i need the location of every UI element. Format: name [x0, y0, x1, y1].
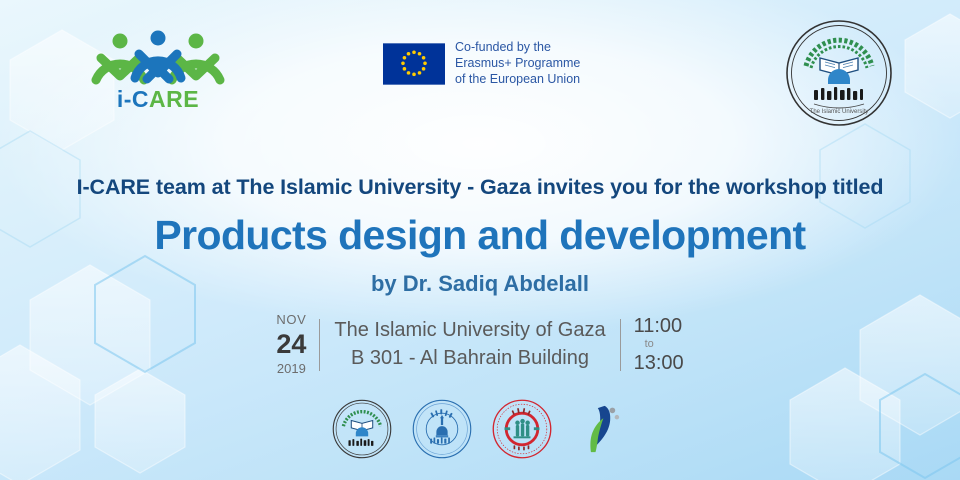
partner-logo-row — [0, 398, 960, 460]
event-day: 24 — [276, 331, 306, 358]
event-venue-block: The Islamic University of Gaza B 301 - A… — [320, 317, 619, 371]
svg-text:The Islamic University: The Islamic University — [810, 109, 869, 115]
event-year: 2019 — [277, 361, 306, 376]
eu-funding-line-2: Erasmus+ Programme — [455, 56, 580, 72]
workshop-title: Products design and development — [0, 212, 960, 259]
poster-canvas: i-CARE — [0, 0, 960, 480]
icare-wordmark-green: ARE — [149, 86, 199, 112]
workshop-presenter: by Dr. Sadiq Abdelall — [0, 271, 960, 297]
eu-funding-line-3: of the European Union — [455, 72, 580, 88]
event-time-start: 11:00 — [634, 316, 684, 336]
header-logo-row: i-CARE — [0, 0, 960, 135]
eu-funding-text: Co-funded by the Erasmus+ Programme of t… — [455, 40, 580, 88]
invitation-headline: I-CARE team at The Islamic University - … — [0, 175, 960, 200]
icare-wordmark: i-CARE — [88, 88, 228, 111]
event-venue-line-2: B 301 - Al Bahrain Building — [334, 345, 605, 372]
event-date-block: NOV 24 2019 — [276, 312, 319, 377]
eu-funding-line-1: Co-funded by the — [455, 40, 580, 56]
event-time-block: 11:00 to 13:00 — [621, 316, 684, 373]
event-venue-line-1: The Islamic University of Gaza — [334, 317, 605, 344]
partner-logo-al-azhar-university-gaza — [411, 398, 473, 460]
eu-funding-block: Co-funded by the Erasmus+ Programme of t… — [383, 40, 580, 88]
event-time-end: 13:00 — [634, 353, 684, 373]
icare-wordmark-blue: i-C — [117, 86, 149, 112]
partner-logo-islamic-university-gaza — [331, 398, 393, 460]
european-union-flag-icon — [383, 43, 445, 85]
event-time-separator: to — [645, 339, 684, 350]
event-details-strip: NOV 24 2019 The Islamic University of Ga… — [0, 312, 960, 377]
partner-logo-ministry-of-health — [491, 398, 553, 460]
partner-logo-j-mark — [571, 398, 629, 460]
icare-logo: i-CARE — [88, 28, 228, 111]
event-month: NOV — [276, 312, 306, 327]
islamic-university-gaza-logo: The Islamic University — [784, 18, 894, 128]
icare-people-icon — [88, 28, 228, 86]
